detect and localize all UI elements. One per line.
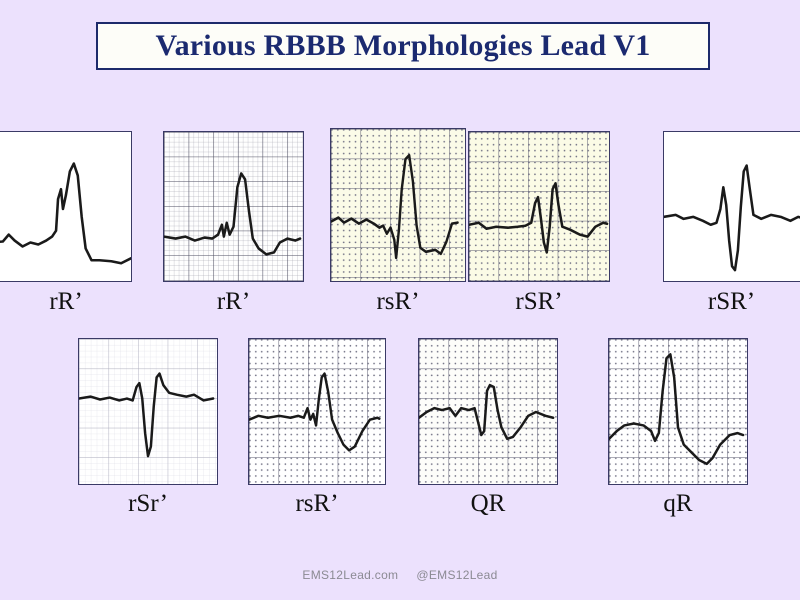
title-box: Various RBBB Morphologies Lead V1 [96,22,710,70]
ecg-panel-label-7: rsR’ [248,490,386,518]
ecg-panel-label-4: rSR’ [468,288,610,316]
ecg-trace-svg [0,132,131,281]
ecg-panel-label-5: rSR’ [663,288,800,316]
ecg-panel-rsrprime [78,338,218,485]
footer-website: EMS12Lead.com [302,568,398,582]
ecg-panel-rrprime [163,131,304,282]
page-title: Various RBBB Morphologies Lead V1 [155,29,650,63]
ecg-trace-svg [79,339,217,484]
ecg-panel-rrprime [0,131,132,282]
ecg-trace-svg [331,129,465,281]
ecg-panel-rsrprime [248,338,386,485]
ecg-panel-rsrprime [468,131,610,282]
ecg-trace-svg [469,132,609,281]
ecg-panel-label-8: QR [418,490,558,518]
ecg-panel-rsrprime [663,131,800,282]
ecg-panel-label-3: rsR’ [330,288,466,316]
ecg-panel-qr [608,338,748,485]
ecg-panel-label-6: rSr’ [78,490,218,518]
ecg-waveform-path [664,166,800,271]
ecg-trace-svg [609,339,747,484]
ecg-trace-svg [664,132,800,281]
ecg-panel-rsrprime [330,128,466,282]
ecg-trace-svg [419,339,557,484]
ecg-panel-label-2: rR’ [163,288,304,316]
ecg-waveform-path [0,164,131,264]
ecg-panel-label-9: qR [608,490,748,518]
ecg-panel-qr [418,338,558,485]
ecg-trace-svg [164,132,303,281]
footer-handle: @EMS12Lead [416,568,497,582]
ecg-trace-svg [249,339,385,484]
footer-credit: EMS12Lead.com@EMS12Lead [0,568,800,582]
ecg-panel-label-1: rR’ [0,288,132,316]
